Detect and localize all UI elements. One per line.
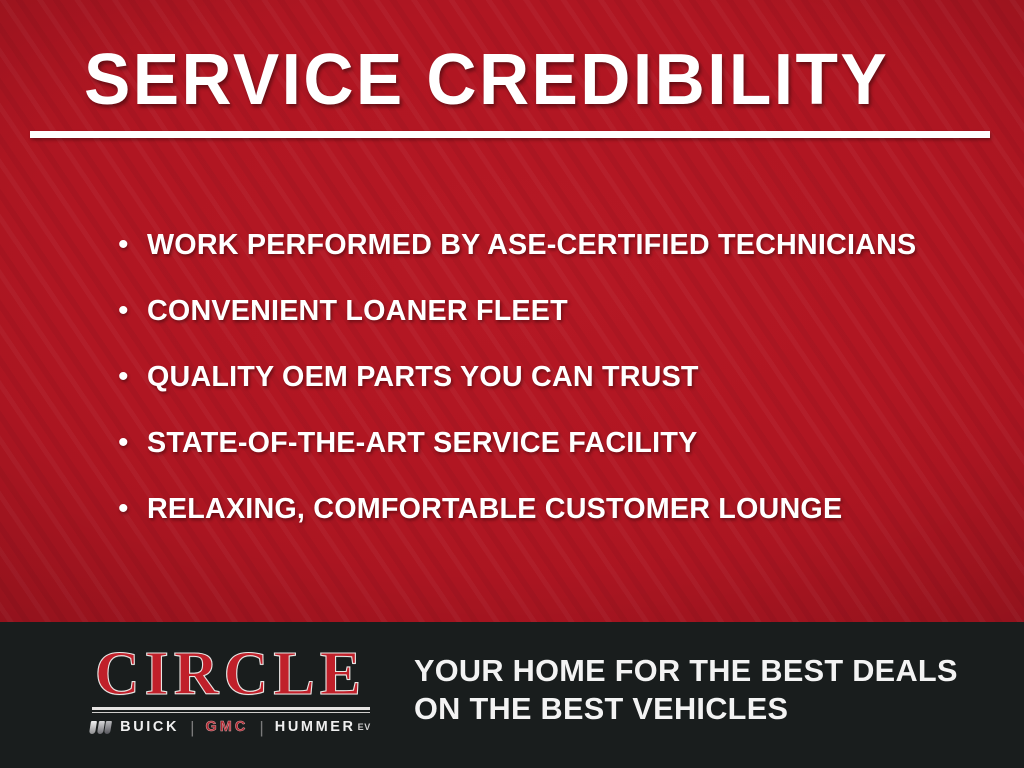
- logo-underline-thin: [92, 712, 370, 713]
- tagline-line-2: ON THE BEST VEHICLES: [414, 690, 988, 728]
- footer-bar: CIRCLE BUICK | GMC | HUMMER EV: [0, 622, 1024, 768]
- brand-separator: |: [259, 720, 263, 735]
- feature-bullet-list: • WORK PERFORMED BY ASE-CERTIFIED TECHNI…: [118, 228, 988, 558]
- bullet-dot-icon: •: [118, 230, 147, 260]
- bullet-dot-icon: •: [118, 428, 147, 458]
- bullet-dot-icon: •: [118, 296, 147, 326]
- list-item: • STATE-OF-THE-ART SERVICE FACILITY: [118, 426, 988, 492]
- brand-gmc-label: GMC: [206, 720, 249, 735]
- page-title: SERVICE CREDIBILITY: [84, 42, 953, 118]
- list-item-label: QUALITY OEM PARTS YOU CAN TRUST: [147, 360, 980, 394]
- list-item-label: CONVENIENT LOANER FLEET: [147, 294, 980, 328]
- list-item-label: WORK PERFORMED BY ASE-CERTIFIED TECHNICI…: [147, 228, 980, 262]
- brand-strip: BUICK | GMC | HUMMER EV: [88, 720, 373, 735]
- list-item: • RELAXING, COMFORTABLE CUSTOMER LOUNGE: [118, 492, 988, 558]
- brand-hummer-label: HUMMER: [275, 720, 356, 735]
- list-item: • QUALITY OEM PARTS YOU CAN TRUST: [118, 360, 988, 426]
- list-item-label: RELAXING, COMFORTABLE CUSTOMER LOUNGE: [147, 492, 980, 526]
- dealer-logo: CIRCLE BUICK | GMC | HUMMER EV: [88, 644, 373, 735]
- list-item-label: STATE-OF-THE-ART SERVICE FACILITY: [147, 426, 980, 460]
- brand-hummer-ev-suffix: EV: [358, 720, 371, 735]
- brand-separator: |: [190, 720, 194, 735]
- bullet-dot-icon: •: [118, 362, 147, 392]
- title-divider-rule: [30, 131, 990, 138]
- buick-tri-shield-icon: [89, 721, 112, 734]
- bullet-dot-icon: •: [118, 494, 147, 524]
- footer-tagline: YOUR HOME FOR THE BEST DEALS ON THE BEST…: [414, 652, 988, 728]
- logo-wordmark: CIRCLE: [88, 644, 373, 704]
- list-item: • CONVENIENT LOANER FLEET: [118, 294, 988, 360]
- brand-buick-label: BUICK: [120, 720, 179, 735]
- tagline-line-1: YOUR HOME FOR THE BEST DEALS: [414, 652, 988, 690]
- service-credibility-slide: SERVICE CREDIBILITY • WORK PERFORMED BY …: [0, 0, 1024, 768]
- list-item: • WORK PERFORMED BY ASE-CERTIFIED TECHNI…: [118, 228, 988, 294]
- brand-hummer-group: HUMMER EV: [275, 720, 371, 735]
